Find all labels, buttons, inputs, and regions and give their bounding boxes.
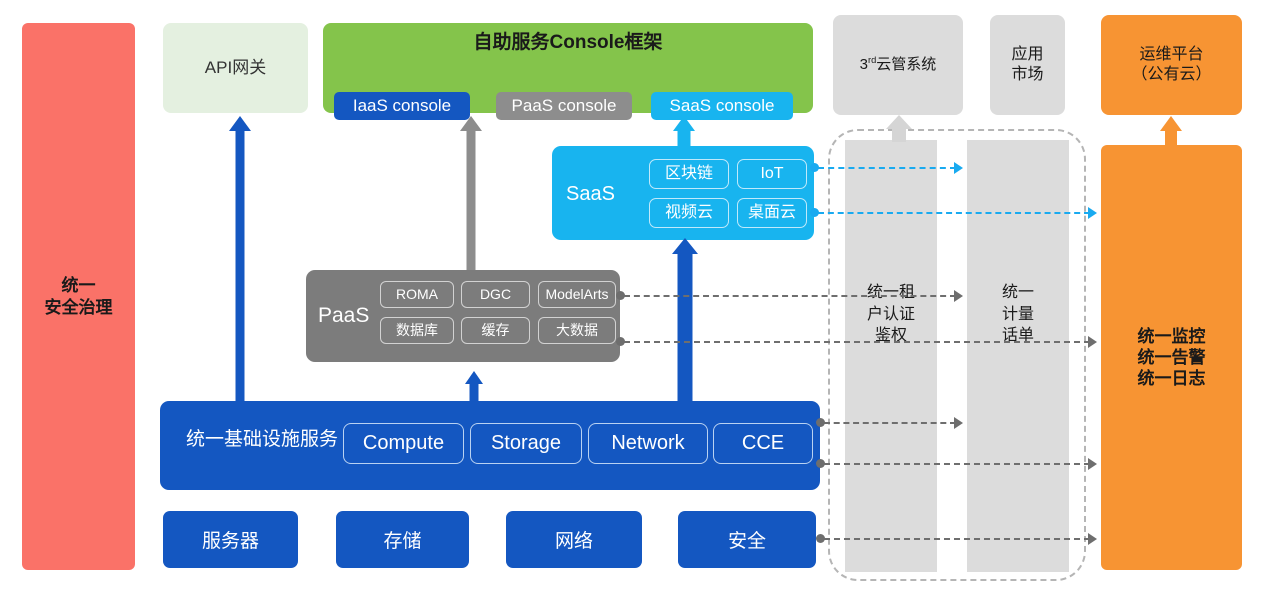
connector-hardware-to-ops xyxy=(824,538,1090,540)
paas-label: PaaS xyxy=(318,303,369,329)
connector-infra-to-ops xyxy=(824,463,1090,465)
unified-metering-column xyxy=(967,140,1069,572)
ops-platform-label: 运维平台 （公有云） xyxy=(1131,45,1211,85)
paas-console-chip[interactable]: PaaS console xyxy=(496,92,632,120)
infra-tag-compute[interactable]: Compute xyxy=(343,423,464,464)
third-party-label: 3rd云管系统 xyxy=(860,55,937,75)
paas-tag-modelarts[interactable]: ModelArts xyxy=(538,281,616,308)
architecture-diagram: 统一 安全治理 API网关 自助服务Console框架 IaaS console… xyxy=(0,0,1265,605)
hardware-box-security[interactable]: 安全 xyxy=(678,511,816,568)
connector-arrowhead-saas-2 xyxy=(1088,207,1097,219)
unified-security-governance-panel: 统一 安全治理 xyxy=(22,23,135,570)
iaas-console-chip[interactable]: IaaS console xyxy=(334,92,470,120)
connector-arrowhead-infra-1 xyxy=(954,417,963,429)
paas-tag-dgc[interactable]: DGC xyxy=(461,281,530,308)
connector-arrowhead-hardware xyxy=(1088,533,1097,545)
hardware-box-storage[interactable]: 存储 xyxy=(336,511,469,568)
connector-arrowhead-paas-2 xyxy=(1088,336,1097,348)
infra-tag-network[interactable]: Network xyxy=(588,423,708,464)
unified-infrastructure-bar: 统一基础设施服务 Compute Storage Network CCE xyxy=(160,401,820,490)
infra-tag-storage[interactable]: Storage xyxy=(470,423,582,464)
arrow-saas-to-console xyxy=(672,116,696,148)
arrow-infra-to-saas xyxy=(672,238,698,402)
connector-paas-to-ops xyxy=(624,341,1090,343)
connector-arrowhead-infra-2 xyxy=(1088,458,1097,470)
app-market-box: 应用 市场 xyxy=(990,15,1065,115)
arrow-shared-to-third-party xyxy=(887,115,911,142)
connector-paas-to-auth xyxy=(624,295,956,297)
ops-platform-box: 运维平台 （公有云） xyxy=(1101,15,1242,115)
saas-layer-box: SaaS 区块链 IoT 视频云 桌面云 xyxy=(552,146,814,240)
connector-arrowhead-paas-1 xyxy=(954,290,963,302)
arrow-ops-monitor-to-platform xyxy=(1159,116,1183,146)
unified-tenant-auth-label: 统一租 户认证 鉴权 xyxy=(845,282,937,347)
connector-saas-to-ops xyxy=(818,212,1090,214)
paas-tag-database[interactable]: 数据库 xyxy=(380,317,454,344)
unified-tenant-auth-column xyxy=(845,140,937,572)
paas-tag-cache[interactable]: 缓存 xyxy=(461,317,530,344)
api-gateway-box: API网关 xyxy=(163,23,308,113)
connector-saas-to-auth xyxy=(818,167,956,169)
paas-tag-bigdata[interactable]: 大数据 xyxy=(538,317,616,344)
saas-tag-blockchain[interactable]: 区块链 xyxy=(649,159,729,189)
saas-tag-iot[interactable]: IoT xyxy=(737,159,807,189)
third-party-cloud-management-box: 3rd云管系统 xyxy=(833,15,963,115)
arrow-paas-to-console xyxy=(459,116,483,270)
governance-label: 统一 安全治理 xyxy=(45,275,113,318)
console-framework-title: 自助服务Console框架 xyxy=(323,31,813,55)
self-service-console-framework: 自助服务Console框架 IaaS console PaaS console … xyxy=(323,23,813,113)
arrow-infra-to-paas xyxy=(464,371,484,402)
connector-infra-to-auth xyxy=(824,422,956,424)
connector-arrowhead-saas-1 xyxy=(954,162,963,174)
infrastructure-label: 统一基础设施服务 xyxy=(186,428,338,452)
hardware-box-server[interactable]: 服务器 xyxy=(163,511,298,568)
ops-monitoring-label: 统一监控 统一告警 统一日志 xyxy=(1138,326,1206,390)
app-market-label: 应用 市场 xyxy=(1011,45,1043,85)
ops-monitoring-panel: 统一监控 统一告警 统一日志 xyxy=(1101,145,1242,570)
api-gateway-label: API网关 xyxy=(205,57,266,78)
infra-tag-cce[interactable]: CCE xyxy=(713,423,813,464)
saas-tag-video-cloud[interactable]: 视频云 xyxy=(649,198,729,228)
paas-tag-roma[interactable]: ROMA xyxy=(380,281,454,308)
saas-tag-desktop-cloud[interactable]: 桌面云 xyxy=(737,198,807,228)
saas-label: SaaS xyxy=(566,182,615,207)
unified-metering-label: 统一 计量 话单 xyxy=(967,282,1069,347)
hardware-box-network[interactable]: 网络 xyxy=(506,511,642,568)
paas-layer-box: PaaS ROMA DGC ModelArts 数据库 缓存 大数据 xyxy=(306,270,620,362)
arrow-infra-to-api-gateway xyxy=(228,116,252,401)
